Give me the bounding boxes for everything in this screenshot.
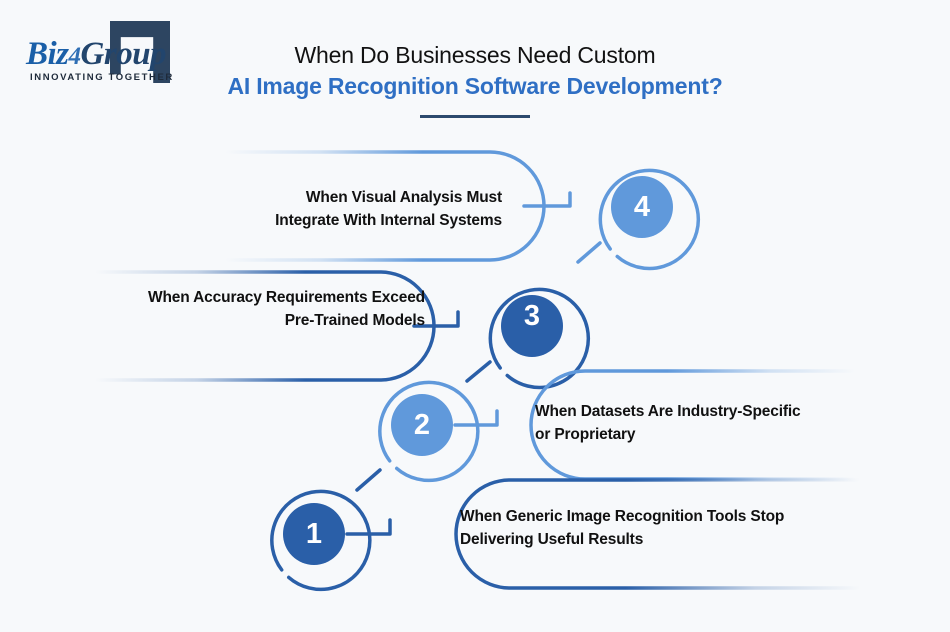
step-2-label-line-1: When Datasets Are Industry-Specific [535, 400, 875, 423]
step-1-label-line-1: When Generic Image Recognition Tools Sto… [460, 505, 860, 528]
steps-diagram: 1 2 3 4 When Generic Image Recognition T… [0, 0, 950, 632]
step-2-label-line-2: or Proprietary [535, 423, 875, 446]
step-3-number: 3 [502, 286, 562, 346]
connector-3-to-4 [578, 243, 600, 262]
step-3-label-line-2: Pre-Trained Models [50, 309, 425, 332]
step-2-label: When Datasets Are Industry-Specific or P… [535, 400, 875, 446]
step-3-label-line-1: When Accuracy Requirements Exceed [50, 286, 425, 309]
step-4-number: 4 [612, 177, 672, 237]
step-4-label: When Visual Analysis Must Integrate With… [180, 186, 502, 232]
logo-tagline: INNOVATING TOGETHER [30, 72, 174, 83]
logo-word-group: Group [81, 36, 167, 72]
connector-1-to-2 [357, 470, 380, 490]
logo-wordmark: Biz4Group [26, 36, 166, 73]
logo-word-biz: Biz [26, 36, 69, 72]
step-4-label-line-1: When Visual Analysis Must [180, 186, 502, 209]
step-1-label: When Generic Image Recognition Tools Sto… [460, 505, 860, 551]
logo-word-four: 4 [69, 43, 81, 70]
step-1-number: 1 [284, 504, 344, 564]
connector-2-to-3 [467, 362, 490, 381]
step-3-label: When Accuracy Requirements Exceed Pre-Tr… [50, 286, 425, 332]
step-1-label-line-2: Delivering Useful Results [460, 528, 860, 551]
step-4-label-line-2: Integrate With Internal Systems [180, 209, 502, 232]
step-2-number: 2 [392, 395, 452, 455]
